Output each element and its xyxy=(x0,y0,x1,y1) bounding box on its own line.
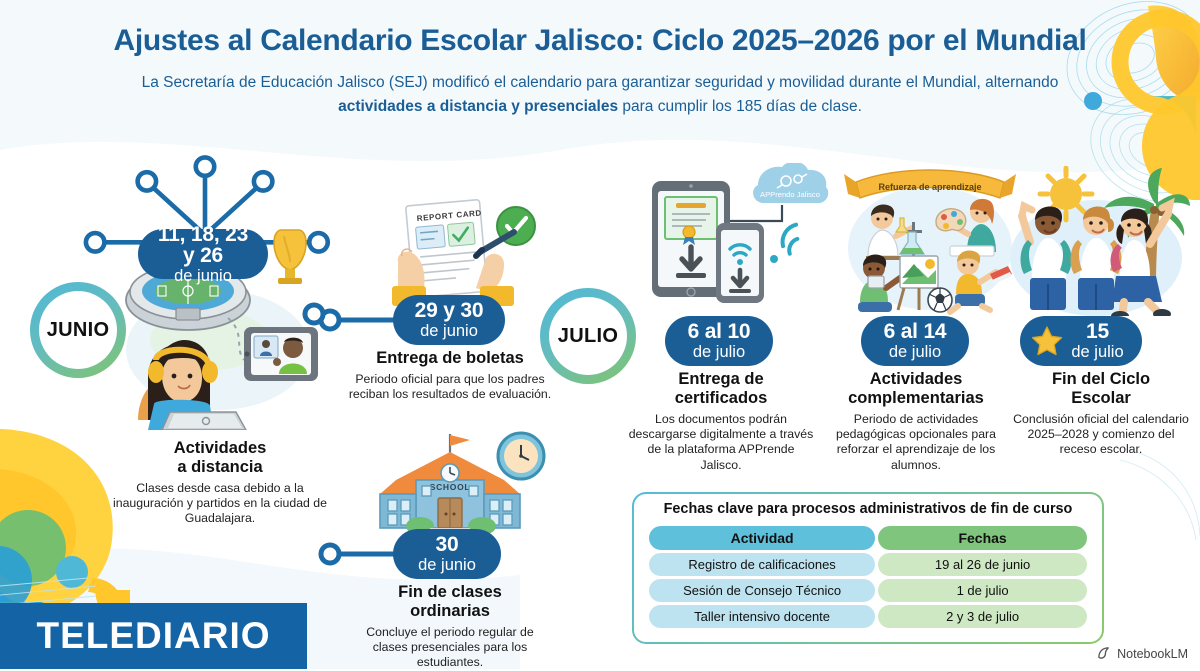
table-row: Registro de calificaciones 19 al 26 de j… xyxy=(649,553,1087,576)
date-small: de junio xyxy=(174,268,232,285)
item-title-line-2: Escolar xyxy=(1071,389,1131,407)
item-title: Fin del Ciclo Escolar xyxy=(1012,370,1190,408)
notebooklm-icon xyxy=(1097,646,1112,661)
item-description: Periodo oficial para que los padres reci… xyxy=(342,372,558,403)
item-title: Fin de clases ordinarias xyxy=(352,583,548,621)
item-entrega-de-certificados: Entrega de certificados Los documentos p… xyxy=(626,365,816,473)
item-title-line-2: ordinarias xyxy=(410,602,490,620)
table-header-row: Actividad Fechas xyxy=(649,526,1087,550)
subtitle-part-2: para cumplir los 185 días de clase. xyxy=(618,98,862,115)
date-big: 6 al 14 xyxy=(884,321,947,342)
date-pill-actividades-a-distancia: 11, 18, 23 y 26 de junio xyxy=(138,229,268,279)
item-fin-del-ciclo-escolar: Fin del Ciclo Escolar Conclusión oficial… xyxy=(1012,365,1190,458)
page-subtitle: La Secretaría de Educación Jalisco (SEJ)… xyxy=(100,71,1100,119)
art-tablet-phone-cloud: APPrendo Jalisco xyxy=(646,163,836,315)
month-label-junio: JUNIO xyxy=(47,319,110,342)
item-description: Clases desde casa debido a la inauguraci… xyxy=(108,481,332,527)
art-kids-vacation xyxy=(1010,166,1190,316)
table-cell-date: 2 y 3 de julio xyxy=(878,605,1087,628)
date-pill-entrega-de-boletas: 29 y 30 de junio xyxy=(393,295,505,345)
infographic-canvas: Ajustes al Calendario Escolar Jalisco: C… xyxy=(0,0,1200,669)
notebooklm-watermark: NotebookLM xyxy=(1097,646,1188,661)
subtitle-part-1: La Secretaría de Educación Jalisco (SEJ)… xyxy=(142,74,1059,91)
item-title-line-2: a distancia xyxy=(177,458,262,476)
table-header-actividad: Actividad xyxy=(649,526,875,550)
item-description: Conclusión oficial del calendario 2025–2… xyxy=(1012,412,1190,458)
item-entrega-de-boletas: Entrega de boletas Periodo oficial para … xyxy=(342,344,558,403)
date-pill-fin-del-ciclo-escolar: 15 de julio xyxy=(1020,316,1142,366)
item-description: Periodo de actividades pedagógicas opcio… xyxy=(820,412,1012,473)
item-description: Los documentos podrán descargarse digita… xyxy=(626,412,816,473)
table-header-fechas: Fechas xyxy=(878,526,1087,550)
item-title: Actividades complementarias xyxy=(820,370,1012,408)
star-icon xyxy=(1030,324,1064,358)
month-ring-junio: JUNIO xyxy=(30,282,126,378)
school-sign-text: SCHOOL xyxy=(430,482,471,492)
ribbon-label-text: Refuerza de aprendizaje xyxy=(878,182,981,192)
date-small: de julio xyxy=(889,344,941,361)
item-title-line-2: complementarias xyxy=(848,389,984,407)
date-pill-fin-de-clases-ordinarias: 30 de junio xyxy=(393,529,501,579)
item-title-line-1: Actividades xyxy=(174,439,267,457)
item-title-line-1: Fin del Ciclo xyxy=(1052,370,1150,388)
item-title: Actividades a distancia xyxy=(108,439,332,477)
item-actividades-complementarias: Actividades complementarias Periodo de a… xyxy=(820,365,1012,473)
date-small: de julio xyxy=(693,344,745,361)
header: Ajustes al Calendario Escolar Jalisco: C… xyxy=(0,24,1200,119)
date-pill-entrega-de-certificados: 6 al 10 de julio xyxy=(665,316,773,366)
key-dates-table: Actividad Fechas Registro de calificacio… xyxy=(646,523,1090,631)
date-small: de junio xyxy=(420,323,478,340)
item-title: Entrega de boletas xyxy=(342,349,558,368)
item-title-line-2: certificados xyxy=(675,389,768,407)
item-fin-de-clases-ordinarias: Fin de clases ordinarias Concluye el per… xyxy=(352,578,548,671)
key-dates-table-card: Fechas clave para procesos administrativ… xyxy=(632,492,1104,644)
item-title-line-1: Entrega de boletas xyxy=(376,349,524,367)
date-big: 30 xyxy=(436,534,459,555)
subtitle-highlight: actividades a distancia y presenciales xyxy=(338,98,618,115)
art-kids-learning: Refuerza de aprendizaje xyxy=(838,160,1018,316)
cloud-label-text: APPrendo Jalisco xyxy=(760,190,820,199)
month-ring-julio: JULIO xyxy=(540,288,636,384)
table-cell-activity: Registro de calificaciones xyxy=(649,553,875,576)
telediario-logo-text: TELEDIARIO xyxy=(36,615,270,657)
notebooklm-label: NotebookLM xyxy=(1117,647,1188,661)
item-title-line-1: Fin de clases xyxy=(398,583,502,601)
item-title: Entrega de certificados xyxy=(626,370,816,408)
date-small: de junio xyxy=(418,557,476,574)
art-school-building: SCHOOL xyxy=(358,428,558,540)
table-cell-activity: Taller intensivo docente xyxy=(649,605,875,628)
item-title-line-1: Entrega de xyxy=(678,370,763,388)
date-big: 29 y 30 xyxy=(415,300,484,321)
date-small: de julio xyxy=(1071,344,1123,361)
month-label-julio: JULIO xyxy=(558,325,618,348)
table-cell-activity: Sesión de Consejo Técnico xyxy=(649,579,875,602)
table-title: Fechas clave para procesos administrativ… xyxy=(646,501,1090,518)
item-description: Concluye el periodo regular de clases pr… xyxy=(352,625,548,671)
date-big: 11, 18, 23 y 26 xyxy=(154,224,252,267)
date-pill-actividades-complementarias: 6 al 14 de julio xyxy=(861,316,969,366)
table-row: Taller intensivo docente 2 y 3 de julio xyxy=(649,605,1087,628)
date-big: 6 al 10 xyxy=(688,321,751,342)
date-big: 15 xyxy=(1086,321,1109,342)
table-cell-date: 1 de julio xyxy=(878,579,1087,602)
telediario-logo: TELEDIARIO xyxy=(0,603,307,669)
table-cell-date: 19 al 26 de junio xyxy=(878,553,1087,576)
page-title: Ajustes al Calendario Escolar Jalisco: C… xyxy=(0,24,1200,57)
item-actividades-a-distancia: Actividades a distancia Clases desde cas… xyxy=(108,434,332,527)
table-row: Sesión de Consejo Técnico 1 de julio xyxy=(649,579,1087,602)
item-title-line-1: Actividades xyxy=(870,370,963,388)
